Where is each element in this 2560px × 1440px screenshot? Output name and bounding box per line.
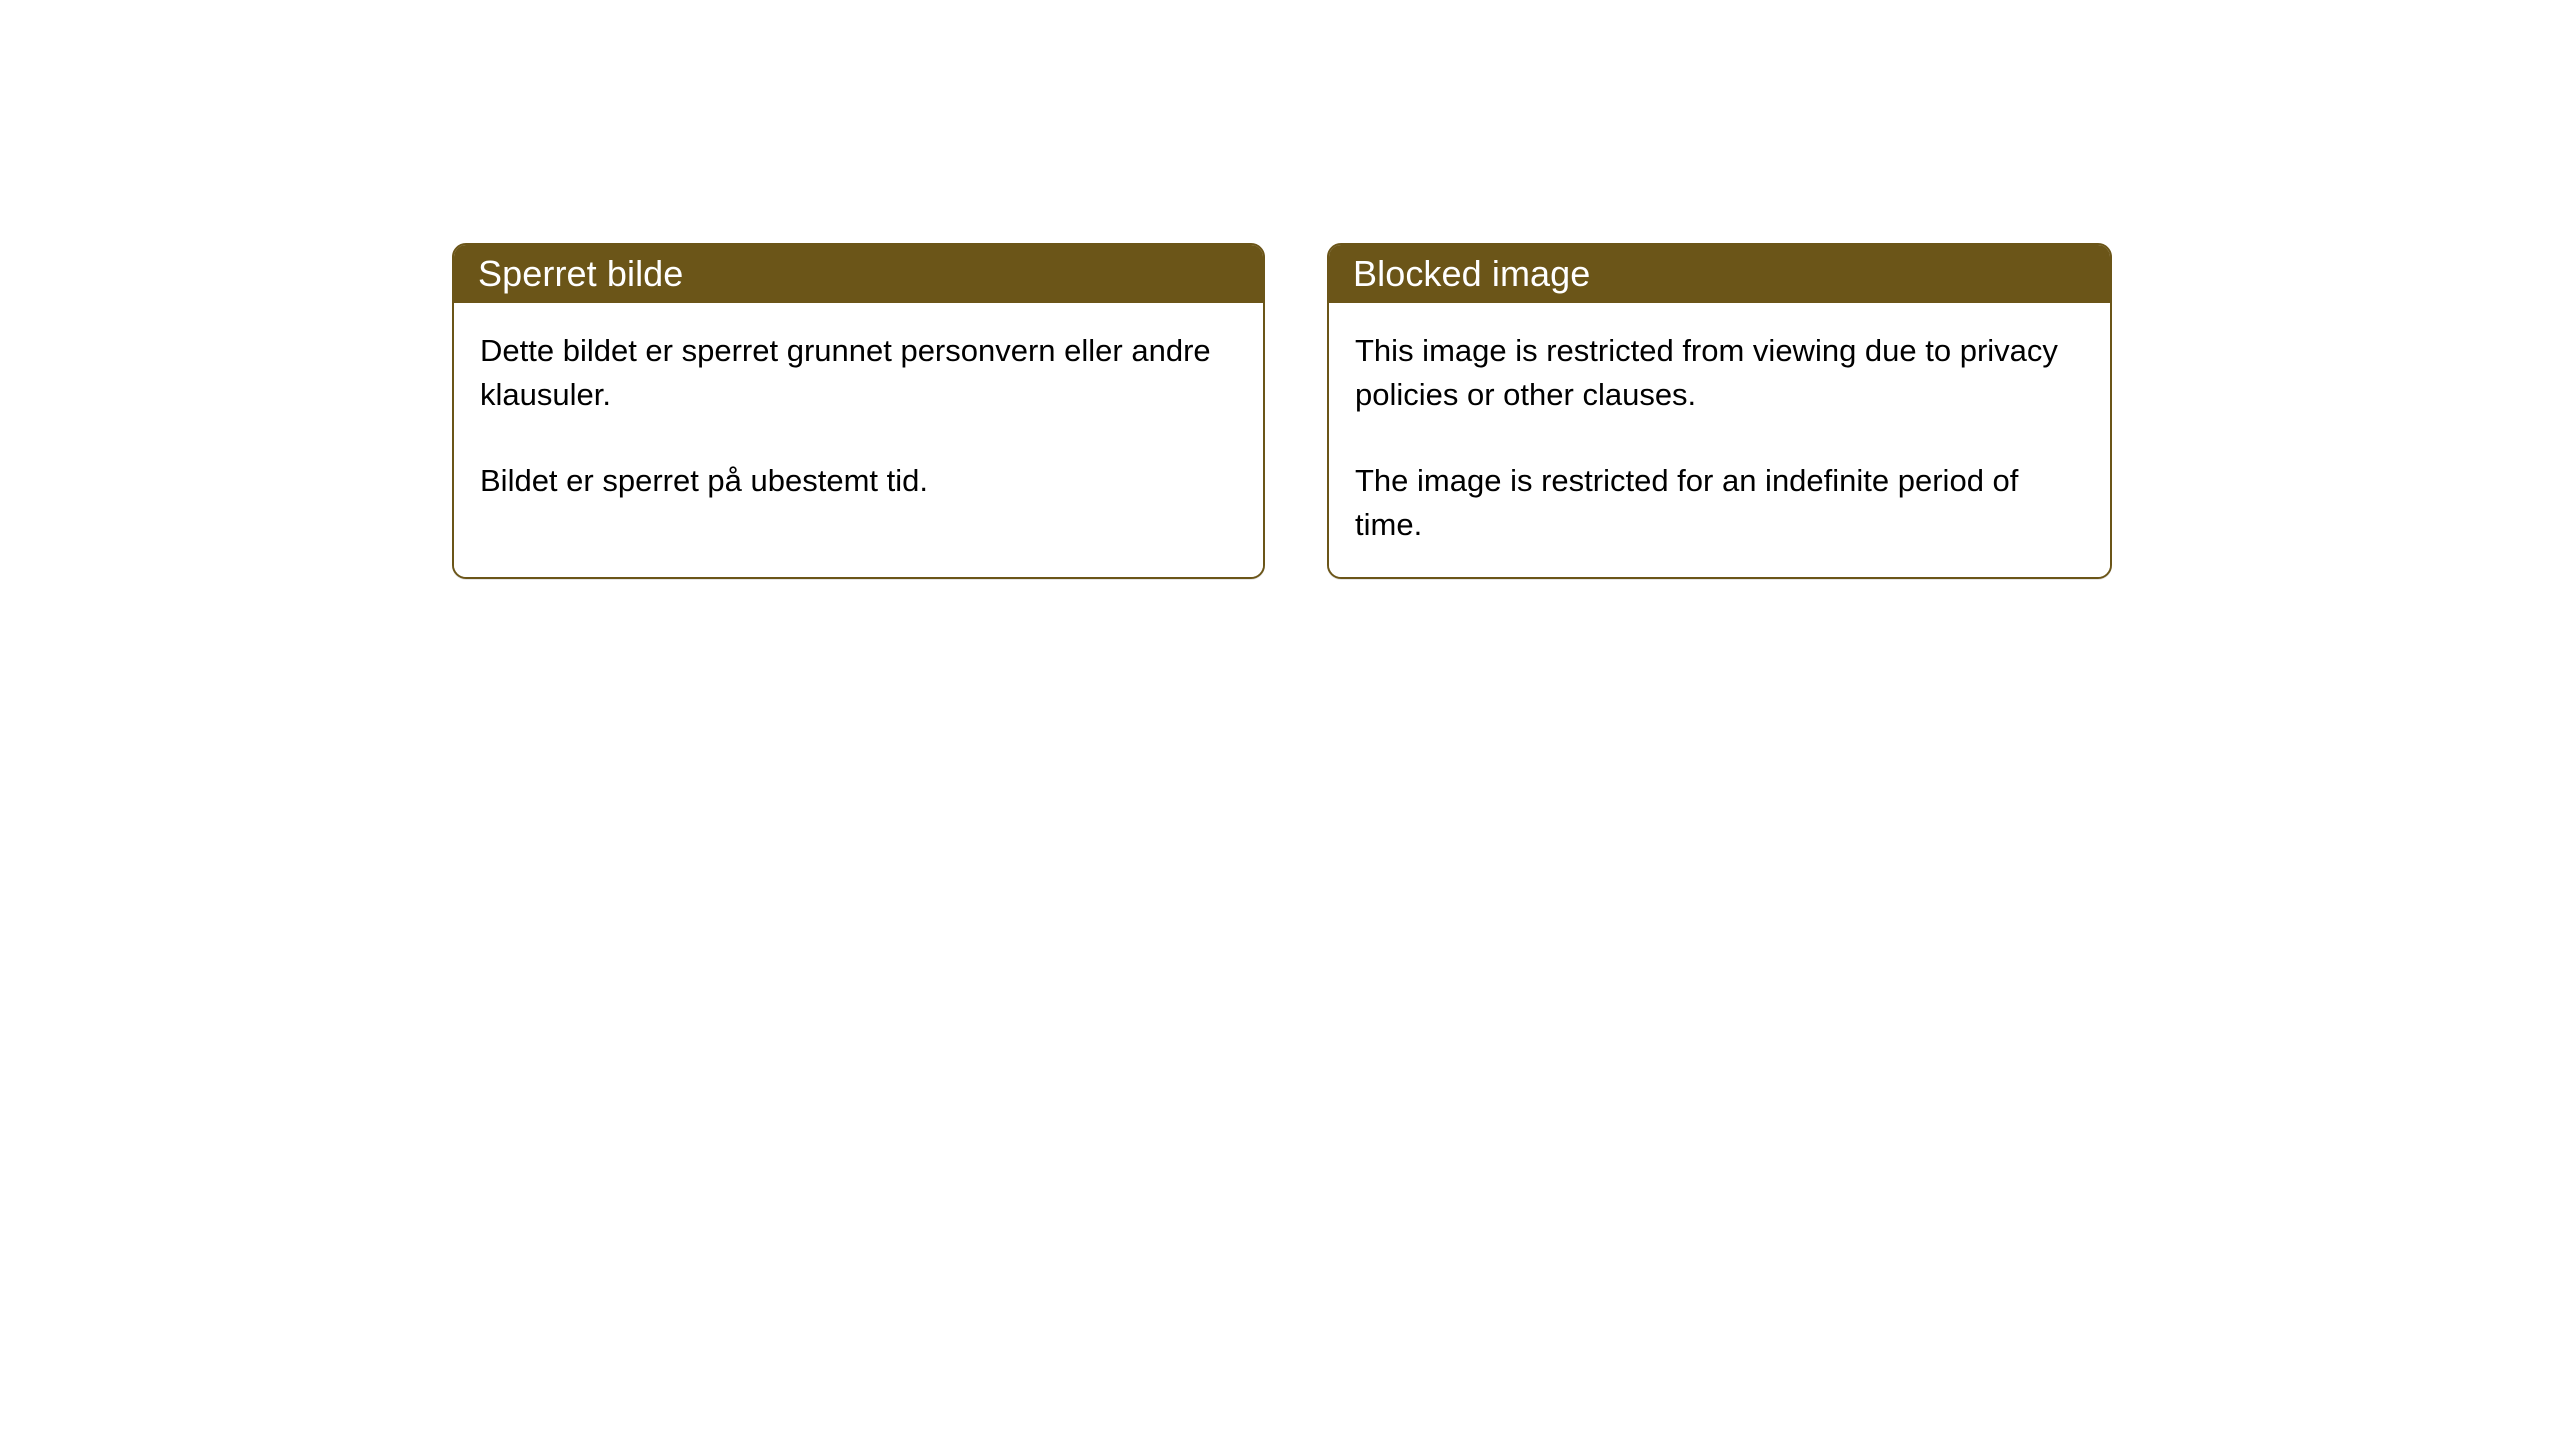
- card-paragraph-reason-english: This image is restricted from viewing du…: [1355, 329, 2088, 417]
- card-title-english: Blocked image: [1353, 256, 1590, 292]
- card-header-norwegian: Sperret bilde: [454, 245, 1263, 303]
- card-title-norwegian: Sperret bilde: [478, 256, 683, 292]
- card-header-english: Blocked image: [1329, 245, 2110, 303]
- card-paragraph-duration-english: The image is restricted for an indefinit…: [1355, 459, 2088, 547]
- card-body-norwegian: Dette bildet er sperret grunnet personve…: [454, 303, 1263, 577]
- blocked-image-notice-group: Sperret bilde Dette bildet er sperret gr…: [452, 243, 2114, 583]
- blocked-image-card-english: Blocked image This image is restricted f…: [1327, 243, 2112, 579]
- card-paragraph-reason-norwegian: Dette bildet er sperret grunnet personve…: [480, 329, 1241, 417]
- blocked-image-card-norwegian: Sperret bilde Dette bildet er sperret gr…: [452, 243, 1265, 579]
- card-paragraph-duration-norwegian: Bildet er sperret på ubestemt tid.: [480, 459, 1241, 503]
- card-body-english: This image is restricted from viewing du…: [1329, 303, 2110, 577]
